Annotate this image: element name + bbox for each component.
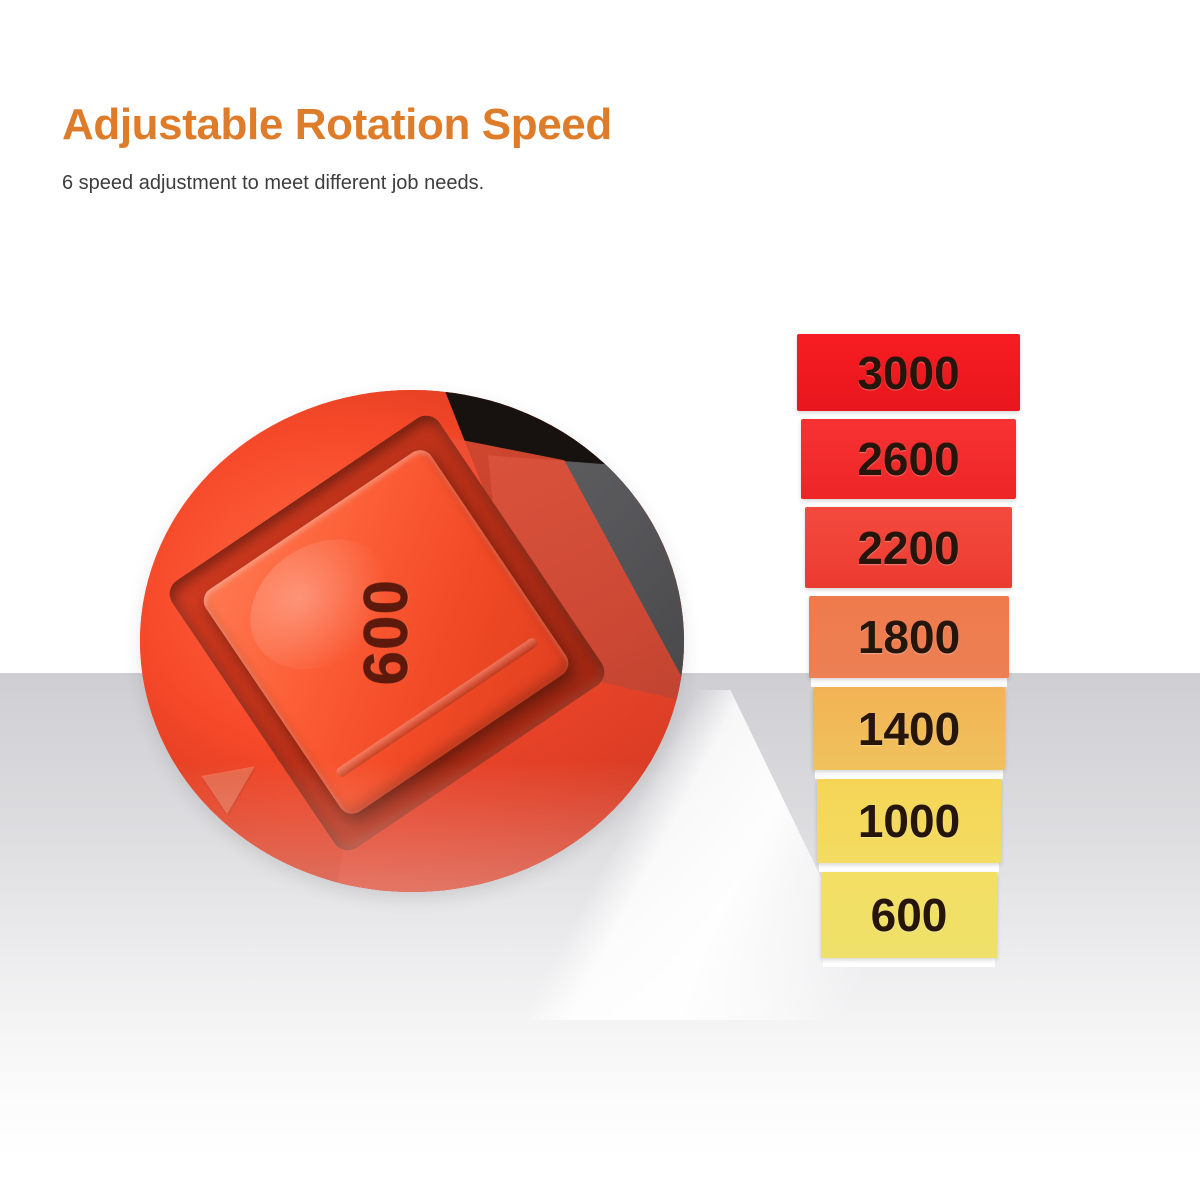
speed-block-value: 1800 (858, 610, 960, 664)
speed-block[interactable]: 1400 (813, 687, 1005, 770)
speed-block-separator (811, 678, 1007, 687)
speed-block-value: 1400 (858, 702, 960, 756)
speed-block[interactable]: 1800 (809, 596, 1009, 678)
speed-block-separator (819, 863, 999, 872)
dial-selected-speed: 600 (350, 579, 421, 685)
speed-block[interactable]: 3000 (797, 334, 1020, 411)
page-subtitle: 6 speed adjustment to meet different job… (62, 172, 484, 195)
speed-block[interactable]: 1000 (817, 779, 1001, 863)
speed-block-value: 3000 (857, 346, 959, 400)
speed-block-separator (799, 411, 1018, 419)
speed-block-value: 600 (871, 888, 948, 942)
speed-block-value: 2600 (857, 432, 959, 486)
speed-block[interactable]: 2200 (805, 507, 1012, 588)
speed-block[interactable]: 600 (821, 872, 997, 958)
speed-block-separator (807, 588, 1010, 596)
speed-block-value: 1000 (858, 794, 960, 848)
speed-block-separator (815, 770, 1003, 779)
speed-block-value: 2200 (857, 521, 959, 575)
speed-dial-closeup: 600 (140, 390, 684, 892)
speed-block[interactable]: 2600 (801, 419, 1016, 499)
page-title: Adjustable Rotation Speed (62, 100, 612, 150)
speed-block-separator (803, 499, 1014, 507)
speed-block-separator (823, 958, 995, 967)
infographic-canvas: Adjustable Rotation Speed 6 speed adjust… (0, 0, 1200, 1200)
speed-scale: 300026002200180014001000600 (790, 330, 1022, 998)
